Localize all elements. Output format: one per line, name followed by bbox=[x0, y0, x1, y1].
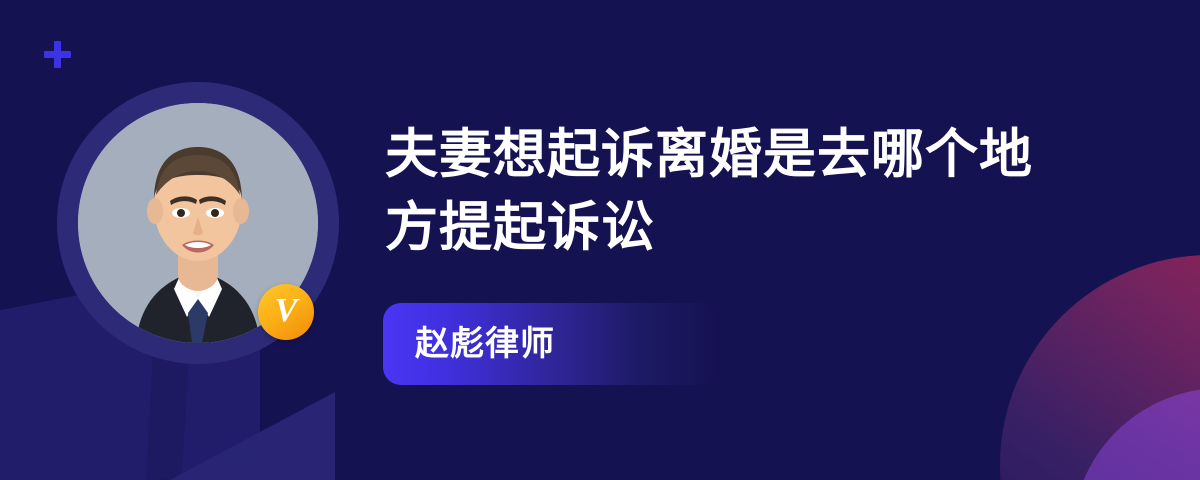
plus-icon bbox=[44, 41, 71, 68]
verified-badge-letter: V bbox=[275, 294, 298, 328]
lawyer-question-banner: V 夫妻想起诉离婚是去哪个地方提起诉讼 赵彪律师 bbox=[0, 0, 1200, 480]
page-title: 夫妻想起诉离婚是去哪个地方提起诉讼 bbox=[385, 118, 1075, 264]
avatar: V bbox=[57, 82, 339, 364]
lawyer-name-label: 赵彪律师 bbox=[415, 327, 555, 361]
decorative-triangle bbox=[170, 392, 335, 480]
banner-content: 夫妻想起诉离婚是去哪个地方提起诉讼 赵彪律师 bbox=[385, 118, 1145, 264]
lawyer-name-button[interactable]: 赵彪律师 bbox=[383, 303, 717, 385]
verified-badge-icon: V bbox=[258, 284, 314, 340]
